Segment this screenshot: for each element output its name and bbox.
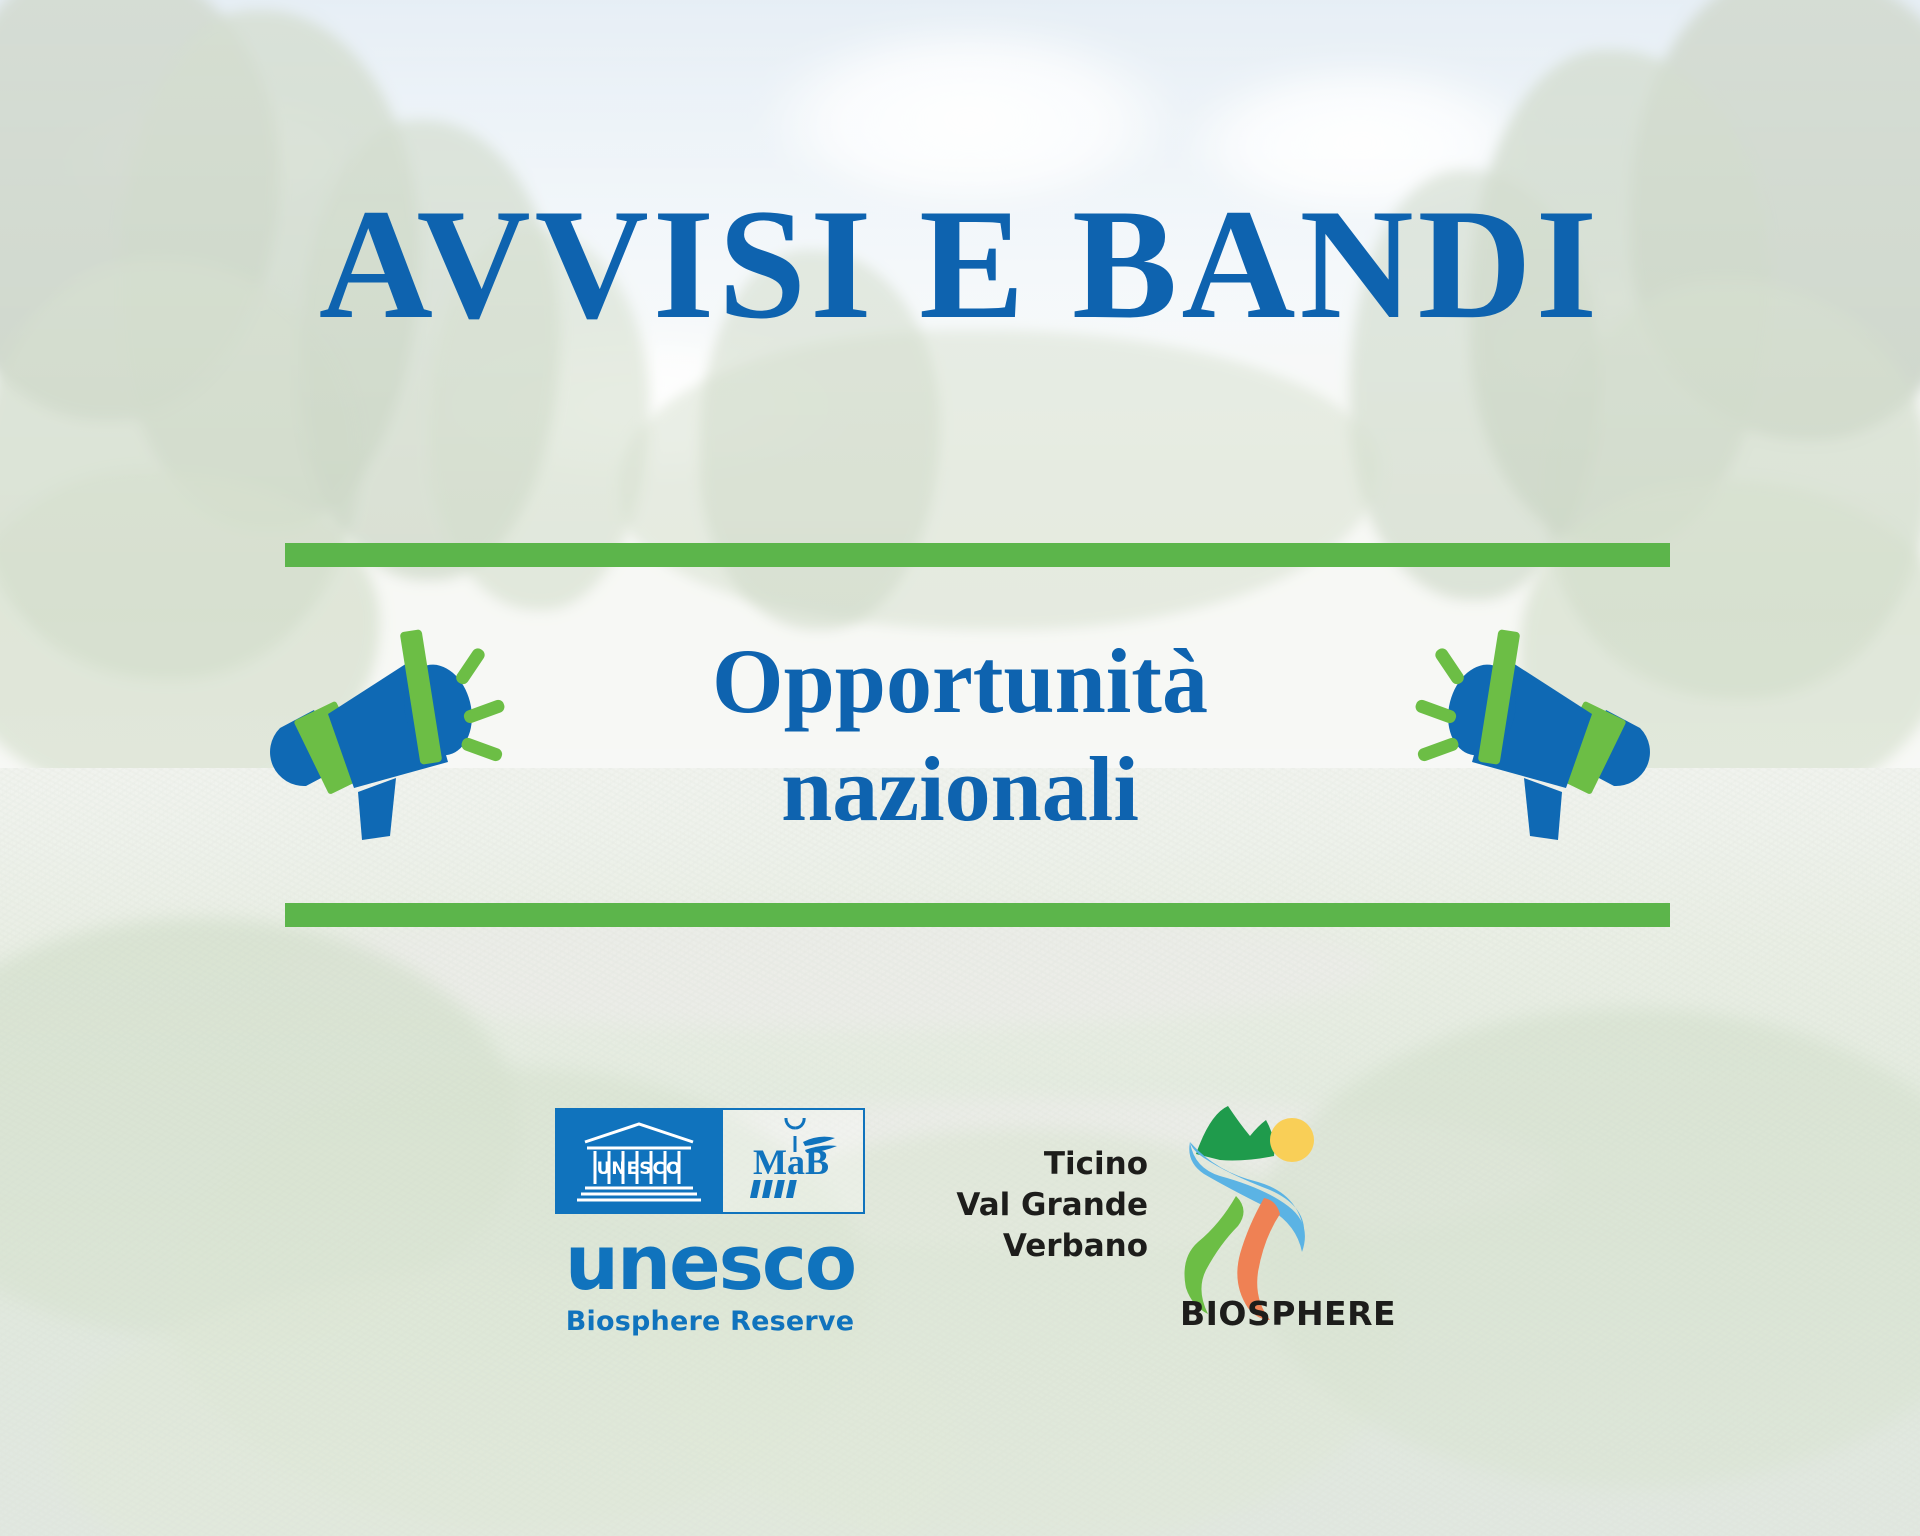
page-subtitle: Opportunità nazionali — [0, 628, 1920, 843]
ticino-biosphere-logo: Ticino Val Grande Verbano — [948, 1108, 1368, 1338]
mab-icon: MaB — [721, 1110, 863, 1212]
unesco-temple-icon: UNESCO — [557, 1110, 721, 1212]
poster-content: AVVISI E BANDI — [0, 0, 1920, 1536]
ticino-line-2: Val Grande — [948, 1185, 1148, 1226]
unesco-logo: UNESCO MaB — [552, 1108, 868, 1337]
ticino-name-block: Ticino Val Grande Verbano — [948, 1144, 1148, 1268]
green-rule-bottom — [285, 903, 1670, 927]
logo-row: UNESCO MaB — [0, 1108, 1920, 1338]
unesco-wordmark: unesco — [565, 1228, 855, 1298]
subtitle-line-1: Opportunità — [0, 628, 1920, 736]
ticino-line-1: Ticino — [948, 1144, 1148, 1185]
unesco-temple-letters: UNESCO — [597, 1159, 682, 1179]
green-rule-top — [285, 543, 1670, 567]
poster-canvas: AVVISI E BANDI — [0, 0, 1920, 1536]
biosphere-caption: BIOSPHERE — [1180, 1294, 1396, 1333]
unesco-tagline: Biosphere Reserve — [566, 1306, 854, 1337]
unesco-emblem: UNESCO MaB — [555, 1108, 865, 1214]
mab-letters: MaB — [753, 1142, 829, 1182]
ticino-line-3: Verbano — [948, 1226, 1148, 1267]
subtitle-line-2: nazionali — [0, 736, 1920, 844]
page-title: AVVISI E BANDI — [0, 186, 1920, 344]
